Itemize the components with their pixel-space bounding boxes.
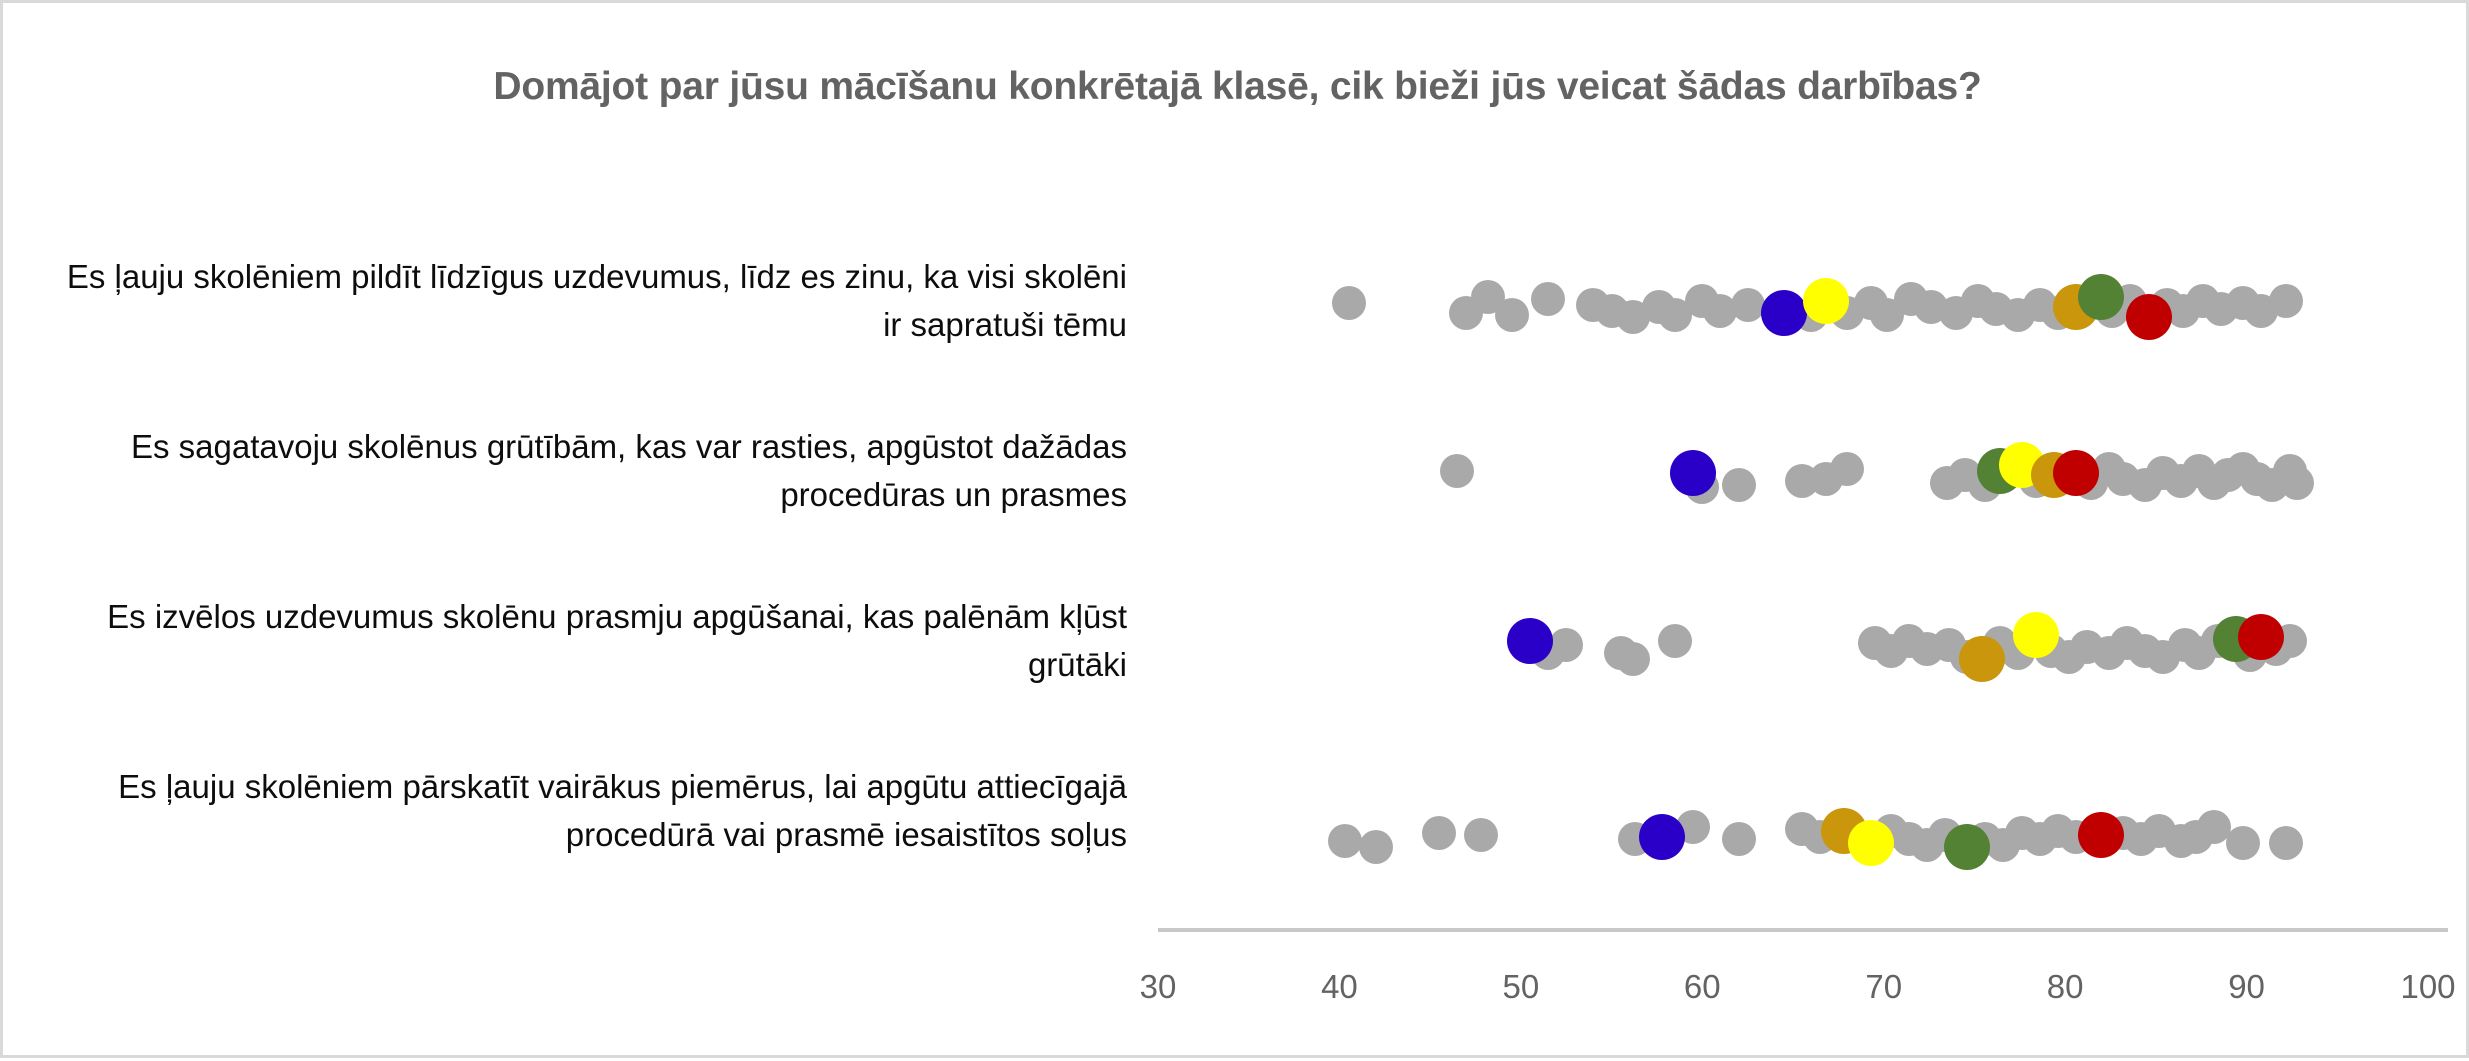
category-label-3: Es izvēlos uzdevumus skolēnu prasmju apg… [47,593,1127,689]
x-axis-tick-label: 40 [1321,968,1358,1006]
data-point [1495,298,1529,332]
data-point [1670,450,1716,496]
data-point [1731,288,1765,322]
x-axis-line [1158,928,2448,932]
data-point [1332,286,1366,320]
x-axis-tick-label: 80 [2047,968,2084,1006]
data-point [1507,618,1553,664]
data-point [1848,820,1894,866]
data-point [1722,822,1756,856]
chart-frame: Domājot par jūsu mācīšanu konkrētajā kla… [0,0,2469,1058]
data-point [1549,628,1583,662]
data-point [1944,824,1990,870]
data-point [1959,636,2005,682]
data-point [1830,452,1864,486]
data-point [2226,826,2260,860]
data-point [1722,468,1756,502]
data-point [2269,284,2303,318]
data-point [1440,454,1474,488]
x-axis-tick-label: 100 [2400,968,2455,1006]
data-point [2078,274,2124,320]
x-axis-tick-label: 70 [1865,968,1902,1006]
data-point [1464,818,1498,852]
data-point [2238,614,2284,660]
category-label-4: Es ļauju skolēniem pārskatīt vairākus pi… [47,763,1127,859]
data-point [1422,816,1456,850]
data-point [1658,624,1692,658]
data-point [1639,814,1685,860]
data-point [2269,826,2303,860]
data-point [2126,294,2172,340]
category-label-1: Es ļauju skolēniem pildīt līdzīgus uzdev… [47,253,1127,349]
x-axis-tick-label: 50 [1502,968,1539,1006]
x-axis-tick-label: 90 [2228,968,2265,1006]
data-point [1531,282,1565,316]
x-axis-tick-label: 60 [1684,968,1721,1006]
data-point [2280,466,2314,500]
category-label-2: Es sagatavoju skolēnus grūtībām, kas var… [47,423,1127,519]
data-point [1616,642,1650,676]
data-point [1803,278,1849,324]
data-point [2013,612,2059,658]
data-point [1359,830,1393,864]
data-point [1328,824,1362,858]
data-point [1761,290,1807,336]
data-point [2078,812,2124,858]
data-point [2053,450,2099,496]
x-axis-tick-label: 30 [1140,968,1177,1006]
plot-area: Es ļauju skolēniem pildīt līdzīgus uzdev… [3,3,2469,1061]
